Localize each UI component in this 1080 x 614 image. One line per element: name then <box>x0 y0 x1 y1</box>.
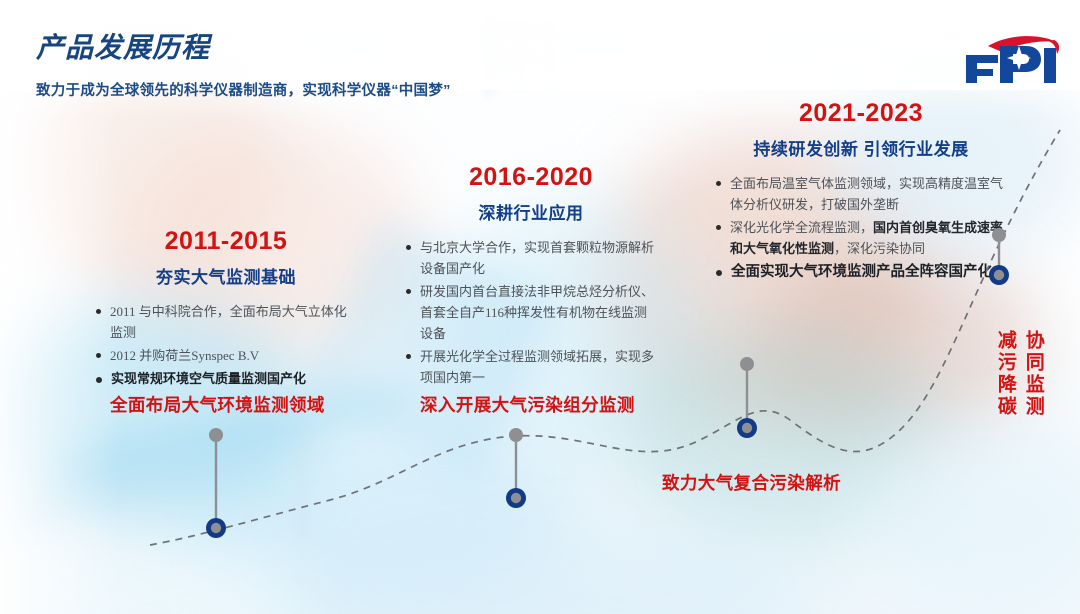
bullet-text: 2011 与中科院合作，全面布局大气立体化监测 <box>110 301 356 343</box>
milestone-block-2: 2016-2020 深耕行业应用 与北京大学合作，实现首套颗粒物源解析设备国产化… <box>406 164 656 390</box>
bullet-text: 研发国内首台直接法非甲烷总烃分析仪、首套全自产116种挥发性有机物在线监测设备 <box>420 281 656 344</box>
bullet-dot-icon <box>406 289 411 294</box>
milestone-caption-3: 致力大气复合污染解析 <box>662 470 841 495</box>
list-item: 开展光化学全过程监测领域拓展，实现多项国内第一 <box>406 346 656 388</box>
list-item: 全面实现大气环境监测产品全阵容国产化 <box>716 261 1006 284</box>
list-item: 全面布局温室气体监测领域，实现高精度温室气体分析仪研发，打破国外垄断 <box>716 173 1006 215</box>
bullet-text: 2012 并购荷兰Synspec B.V <box>110 345 259 366</box>
bullet-text: 开展光化学全过程监测领域拓展，实现多项国内第一 <box>420 346 656 388</box>
timeline-marker-3[interactable] <box>737 357 757 438</box>
list-item: 研发国内首台直接法非甲烷总烃分析仪、首套全自产116种挥发性有机物在线监测设备 <box>406 281 656 344</box>
milestone-years: 2011-2015 <box>96 228 356 256</box>
bullet-dot-icon <box>406 354 411 359</box>
vertical-slogan: 减污降碳 协同监测 <box>994 330 1044 418</box>
slide-root: 产品发展历程 致力于成为全球领先的科学仪器制造商，实现科学仪器“中国梦” 201… <box>0 0 1080 614</box>
list-item: 实现常规环境空气质量监测国产化 <box>96 368 356 389</box>
bullet-dot-icon <box>716 181 721 186</box>
slogan-column-left: 减污降碳 <box>994 330 1016 418</box>
milestone-heading: 夯实大气监测基础 <box>96 263 356 288</box>
bullet-dot-icon <box>716 270 722 276</box>
milestone-years: 2021-2023 <box>716 100 1006 128</box>
list-item: 2011 与中科院合作，全面布局大气立体化监测 <box>96 301 356 343</box>
timeline-marker-2[interactable] <box>506 428 526 508</box>
bullet-dot-icon <box>96 353 101 358</box>
bullet-text: 深化光化学全流程监测，国内首创臭氧生成速率和大气氧化性监测，深化污染协同 <box>730 217 1006 259</box>
bullet-dot-icon <box>96 309 101 314</box>
bullet-dot-icon <box>716 225 721 230</box>
milestone-block-1: 2011-2015 夯实大气监测基础 2011 与中科院合作，全面布局大气立体化… <box>96 228 356 391</box>
milestone-caption-2: 深入开展大气污染组分监测 <box>420 392 635 417</box>
milestone-heading: 深耕行业应用 <box>406 199 656 224</box>
bullet-text: 全面实现大气环境监测产品全阵容国产化 <box>731 261 992 284</box>
timeline-marker-1[interactable] <box>206 428 226 538</box>
slide-header: 产品发展历程 致力于成为全球领先的科学仪器制造商，实现科学仪器“中国梦” <box>36 34 451 100</box>
milestone-block-3: 2021-2023 持续研发创新 引领行业发展 全面布局温室气体监测领域，实现高… <box>716 100 1006 286</box>
bullet-dot-icon <box>96 377 102 383</box>
milestone-heading: 持续研发创新 引领行业发展 <box>716 135 1006 160</box>
bullet-dot-icon <box>406 245 411 250</box>
milestone-years: 2016-2020 <box>406 164 656 192</box>
milestone-bullets: 2011 与中科院合作，全面布局大气立体化监测 2012 并购荷兰Synspec… <box>96 301 356 389</box>
bullet-text: 实现常规环境空气质量监测国产化 <box>111 368 306 389</box>
milestone-caption-1: 全面布局大气环境监测领域 <box>110 392 325 417</box>
list-item: 2012 并购荷兰Synspec B.V <box>96 345 356 366</box>
bullet-text: 全面布局温室气体监测领域，实现高精度温室气体分析仪研发，打破国外垄断 <box>730 173 1006 215</box>
fpi-logo-icon <box>958 28 1062 86</box>
page-subtitle: 致力于成为全球领先的科学仪器制造商，实现科学仪器“中国梦” <box>36 79 451 100</box>
milestone-bullets: 与北京大学合作，实现首套颗粒物源解析设备国产化 研发国内首台直接法非甲烷总烃分析… <box>406 237 656 388</box>
slogan-column-right: 协同监测 <box>1022 330 1044 418</box>
list-item: 与北京大学合作，实现首套颗粒物源解析设备国产化 <box>406 237 656 279</box>
milestone-bullets: 全面布局温室气体监测领域，实现高精度温室气体分析仪研发，打破国外垄断 深化光化学… <box>716 173 1006 285</box>
bullet-text: 与北京大学合作，实现首套颗粒物源解析设备国产化 <box>420 237 656 279</box>
list-item: 深化光化学全流程监测，国内首创臭氧生成速率和大气氧化性监测，深化污染协同 <box>716 217 1006 259</box>
page-title: 产品发展历程 <box>36 34 451 62</box>
fpi-logo <box>958 28 1062 86</box>
